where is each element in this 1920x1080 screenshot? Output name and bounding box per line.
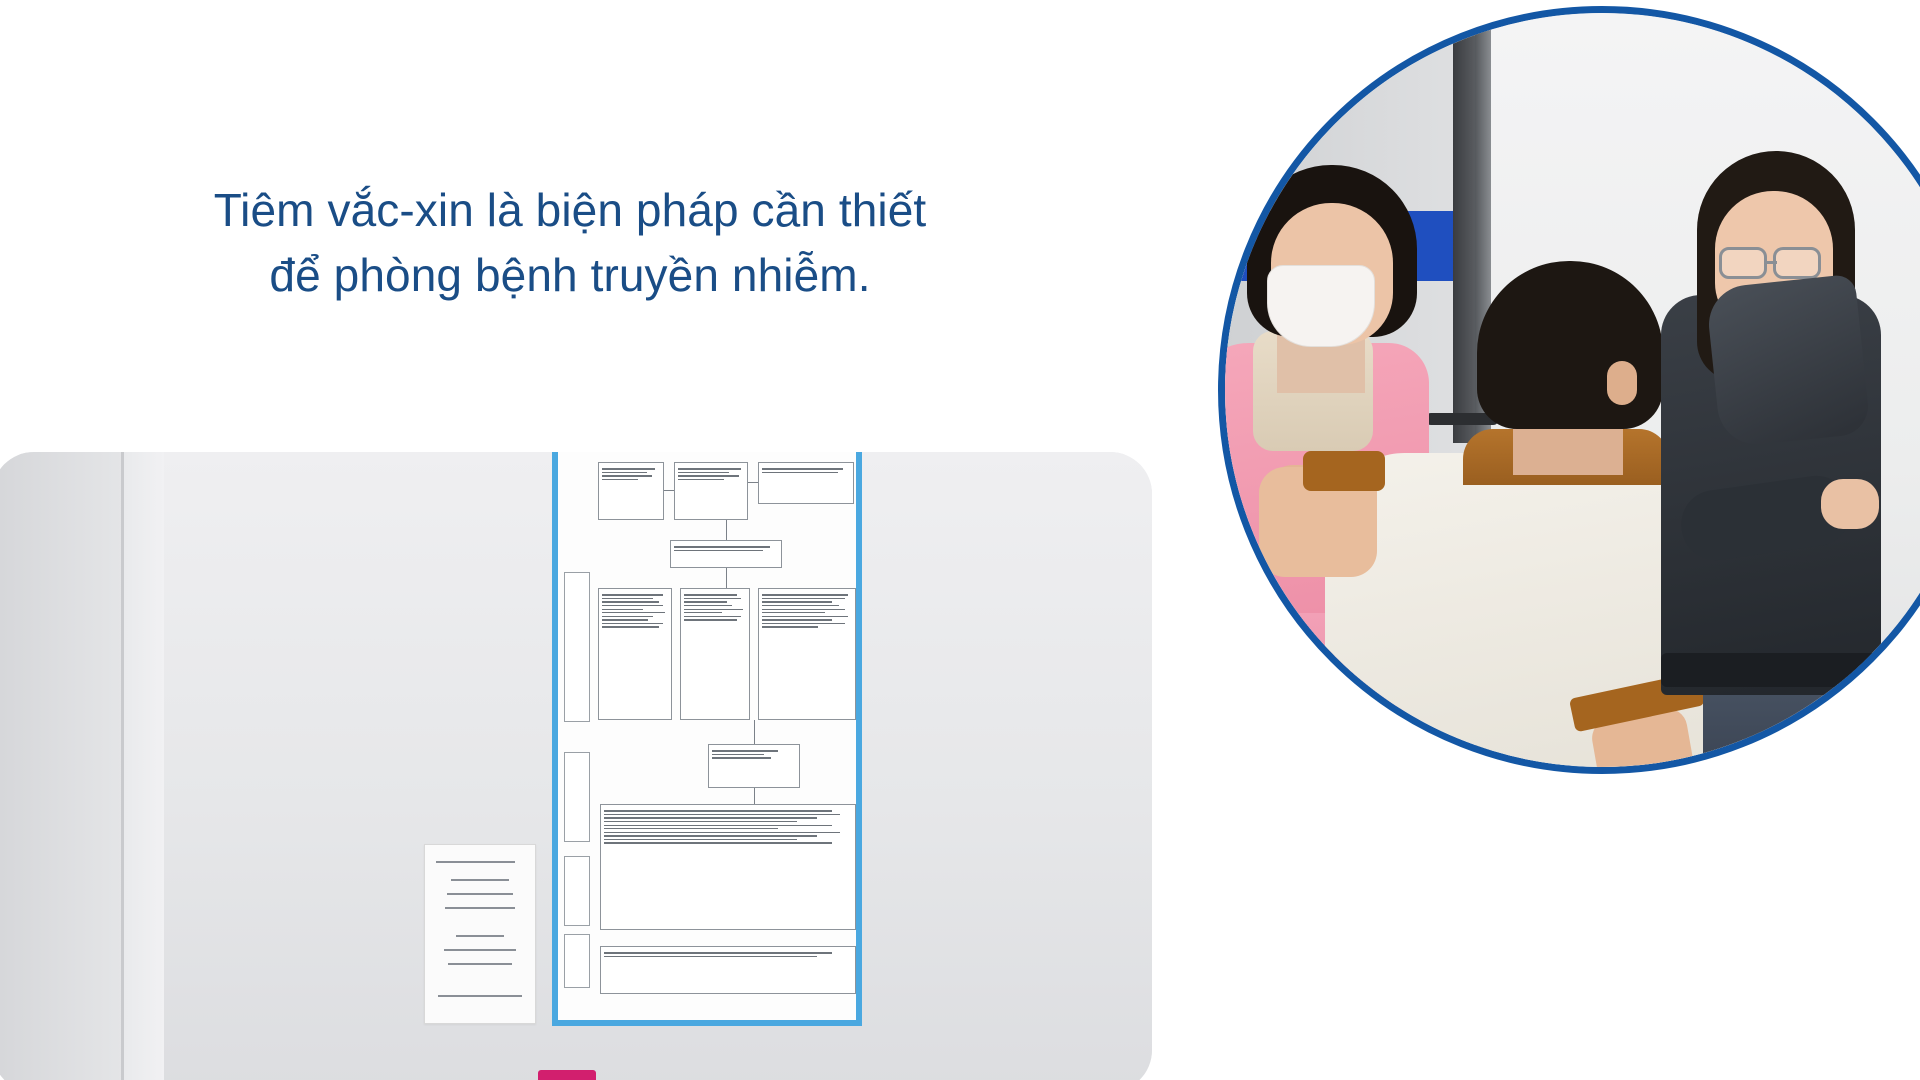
adult-vaccination-photo: KHÁM [1218,6,1920,774]
poster-box [708,744,800,788]
bystander-hoodie-hem [1661,653,1881,687]
poster-side-tab-1 [564,572,590,722]
bystander-jacket-over-arm [1705,274,1871,449]
vaccination-room-photo [0,452,1152,1080]
wall-corner [124,452,164,1080]
poster-box [598,462,664,520]
pink-wall-sign [538,1070,596,1080]
left-wall [0,452,124,1080]
circle-nurse-face-mask [1267,265,1375,347]
glasses-lens-right [1773,247,1821,279]
photo-circle-scene: KHÁM [1225,13,1920,767]
patient-hair [1477,261,1663,429]
poster-side-tab-3 [564,856,590,926]
poster-side-tab-2 [564,752,590,842]
protocol-poster [552,452,862,1026]
poster-connector [726,520,727,540]
patient-sleeve-trim-left [1303,451,1385,491]
poster-side-tab-4 [564,934,590,988]
poster-box [598,588,672,720]
poster-box [680,588,750,720]
glasses-bridge [1765,261,1777,264]
poster-box [674,462,748,520]
poster-box [758,462,854,504]
poster-connector [748,482,758,483]
slide-canvas: Tiêm vắc-xin là biện pháp cần thiết để p… [0,0,1920,1080]
poster-connector [754,788,755,804]
page-title: Tiêm vắc-xin là biện pháp cần thiết để p… [120,178,1020,309]
poster-box [600,804,856,930]
poster-connector [754,720,755,744]
bystander-hand [1821,479,1879,529]
patient-ear [1607,361,1637,405]
glasses-lens-left [1719,247,1767,279]
photo-left-scene [0,452,1152,1080]
poster-box [670,540,782,568]
wall-notice-paper [424,844,536,1024]
poster-box [600,946,856,994]
poster-connector [664,490,674,491]
poster-connector [726,568,727,588]
poster-box [758,588,856,720]
